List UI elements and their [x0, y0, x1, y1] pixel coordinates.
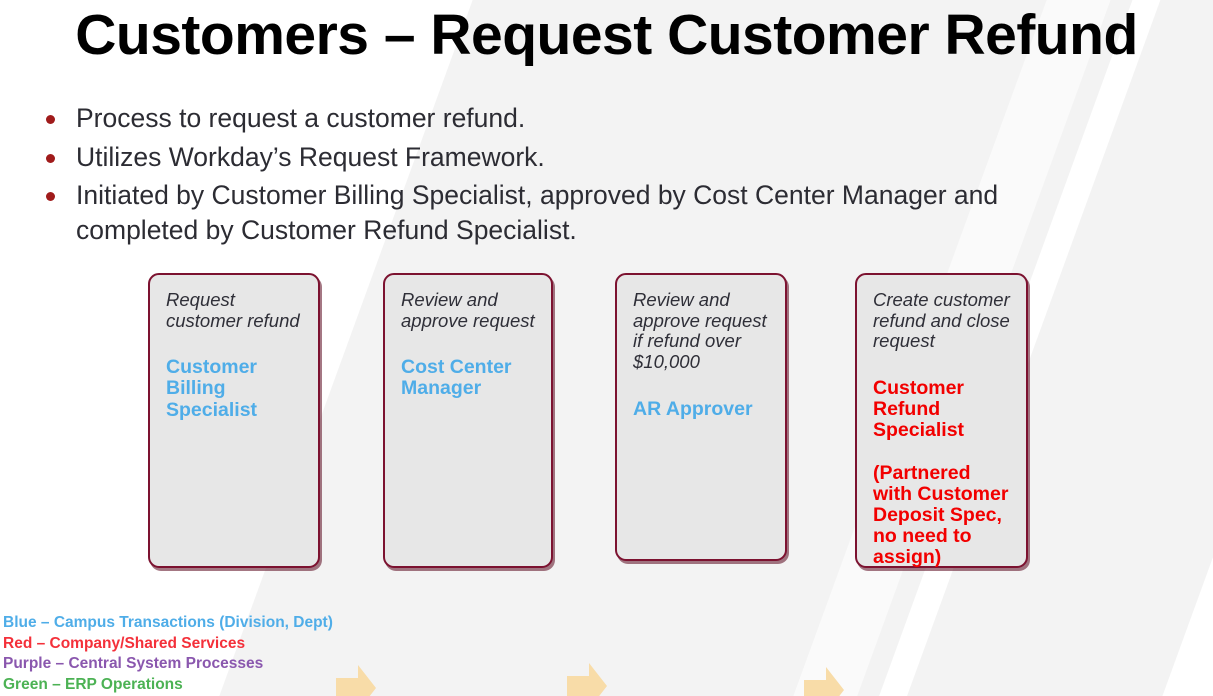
page-title: Customers – Request Customer Refund	[0, 2, 1213, 68]
color-legend: Blue – Campus Transactions (Division, De…	[3, 613, 333, 695]
legend-item-purple: Purple – Central System Processes	[3, 654, 333, 675]
legend-item-red: Red – Company/Shared Services	[3, 634, 333, 655]
process-step-box: Request customer refund Customer Billing…	[148, 273, 320, 568]
bullet-text: Process to request a customer refund.	[76, 101, 525, 136]
right-arrow-icon	[804, 667, 844, 696]
legend-item-green: Green – ERP Operations	[3, 675, 333, 696]
step-role: AR Approver	[633, 399, 771, 420]
bullet-text: Initiated by Customer Billing Specialist…	[76, 178, 1036, 247]
bullet-dot-icon	[46, 115, 55, 124]
step-description: Create customer refund and close request	[873, 290, 1012, 352]
slide-canvas: Customers – Request Customer Refund Proc…	[0, 0, 1213, 696]
step-description: Review and approve request	[401, 290, 537, 331]
bullet-list: Process to request a customer refund. Ut…	[46, 101, 1036, 252]
step-description: Review and approve request if refund ove…	[633, 290, 771, 373]
step-role: Customer Refund Specialist	[873, 378, 1012, 441]
list-item: Initiated by Customer Billing Specialist…	[46, 178, 1036, 247]
bullet-text: Utilizes Workday’s Request Framework.	[76, 140, 545, 175]
step-note: (Partnered with Customer Deposit Spec, n…	[873, 463, 1012, 568]
step-role: Cost Center Manager	[401, 357, 537, 399]
process-flow: Request customer refund Customer Billing…	[0, 273, 1213, 573]
legend-item-blue: Blue – Campus Transactions (Division, De…	[3, 613, 333, 634]
step-role: Customer Billing Specialist	[166, 357, 304, 420]
list-item: Process to request a customer refund.	[46, 101, 1036, 136]
right-arrow-icon	[336, 665, 376, 696]
process-step-box: Review and approve request Cost Center M…	[383, 273, 553, 568]
process-step-box: Create customer refund and close request…	[855, 273, 1028, 568]
bullet-dot-icon	[46, 192, 55, 201]
right-arrow-icon	[567, 663, 607, 696]
step-description: Request customer refund	[166, 290, 304, 331]
process-step-box: Review and approve request if refund ove…	[615, 273, 787, 561]
list-item: Utilizes Workday’s Request Framework.	[46, 140, 1036, 175]
bullet-dot-icon	[46, 154, 55, 163]
